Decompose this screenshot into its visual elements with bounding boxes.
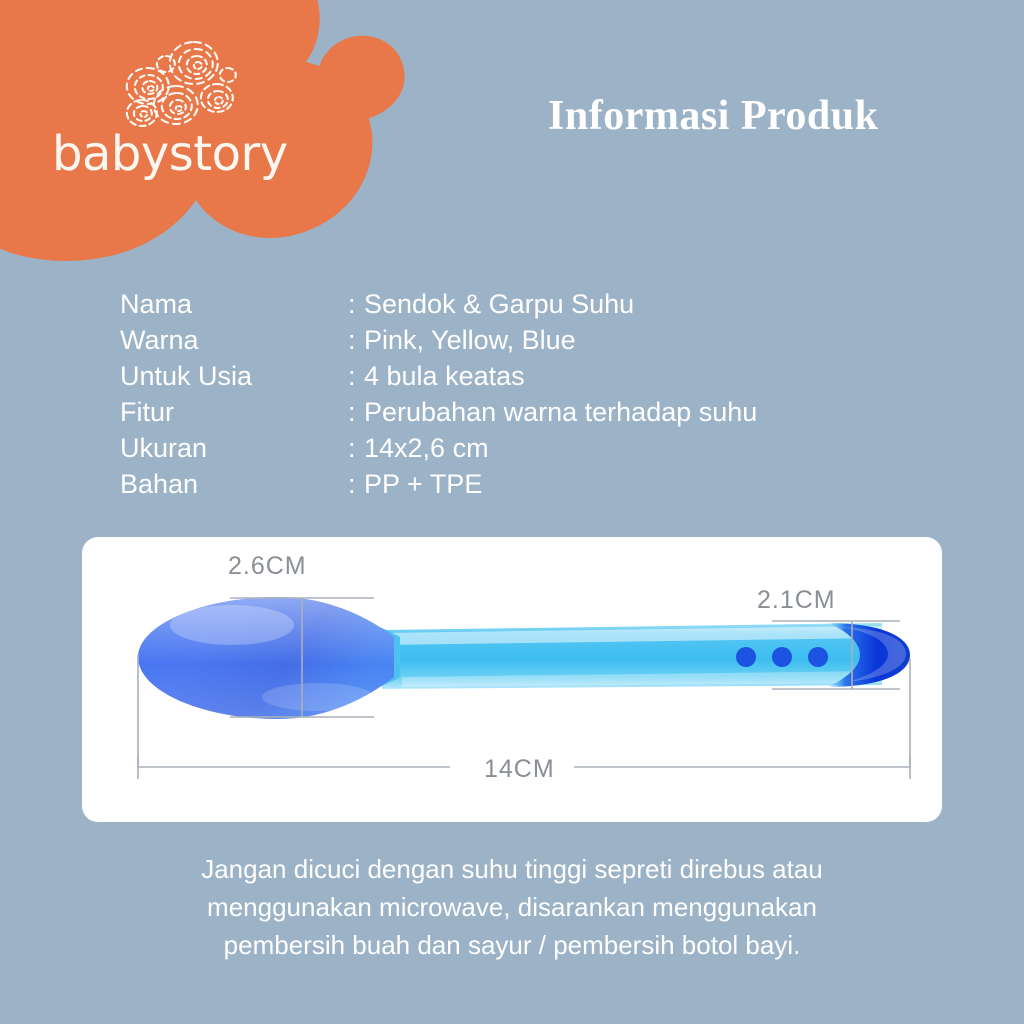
spec-row: Nama :Sendok & Garpu Suhu [120, 286, 920, 322]
spec-value: :Pink, Yellow, Blue [348, 322, 576, 358]
spec-value-text: Perubahan warna terhadap suhu [364, 397, 757, 427]
spec-label: Fitur [120, 394, 348, 430]
spec-label: Untuk Usia [120, 358, 348, 394]
spec-value-text: 14x2,6 cm [364, 433, 489, 463]
care-line-1: Jangan dicuci dengan suhu tinggi sepreti… [112, 850, 912, 888]
product-info-graphic: babystory Informasi Produk Nama :Sendok … [0, 0, 1024, 1024]
spec-label: Warna [120, 322, 348, 358]
spec-value: :PP + TPE [348, 466, 482, 502]
dimension-label-length: 14CM [484, 755, 555, 784]
spec-colon: : [348, 394, 364, 430]
spec-value: :14x2,6 cm [348, 430, 489, 466]
cloud-scribble-icon [118, 28, 250, 130]
spec-colon: : [348, 466, 364, 502]
care-line-2: menggunakan microwave, disarankan menggu… [112, 888, 912, 926]
brand-wordmark: babystory [52, 130, 312, 178]
spec-colon: : [348, 358, 364, 394]
spec-row: Warna :Pink, Yellow, Blue [120, 322, 920, 358]
spec-colon: : [348, 322, 364, 358]
spec-table: Nama :Sendok & Garpu Suhu Warna :Pink, Y… [120, 286, 920, 502]
dimension-label-width: 2.6CM [228, 552, 307, 581]
spec-row: Fitur :Perubahan warna terhadap suhu [120, 394, 920, 430]
spec-row: Ukuran :14x2,6 cm [120, 430, 920, 466]
spec-value-text: PP + TPE [364, 469, 482, 499]
spec-colon: : [348, 286, 364, 322]
spec-value: :Sendok & Garpu Suhu [348, 286, 634, 322]
spec-colon: : [348, 430, 364, 466]
dimension-label-tip: 2.1CM [757, 586, 836, 615]
care-instructions: Jangan dicuci dengan suhu tinggi sepreti… [112, 850, 912, 964]
page-title: Informasi Produk [548, 92, 878, 140]
spec-label: Ukuran [120, 430, 348, 466]
spec-row: Bahan :PP + TPE [120, 466, 920, 502]
spec-value-text: Sendok & Garpu Suhu [364, 289, 634, 319]
care-line-3: pembersih buah dan sayur / pembersih bot… [112, 926, 912, 964]
spec-value: :4 bula keatas [348, 358, 525, 394]
spec-label: Nama [120, 286, 348, 322]
spec-value-text: Pink, Yellow, Blue [364, 325, 576, 355]
spec-value: :Perubahan warna terhadap suhu [348, 394, 757, 430]
spec-value-text: 4 bula keatas [364, 361, 525, 391]
spec-label: Bahan [120, 466, 348, 502]
spec-row: Untuk Usia :4 bula keatas [120, 358, 920, 394]
